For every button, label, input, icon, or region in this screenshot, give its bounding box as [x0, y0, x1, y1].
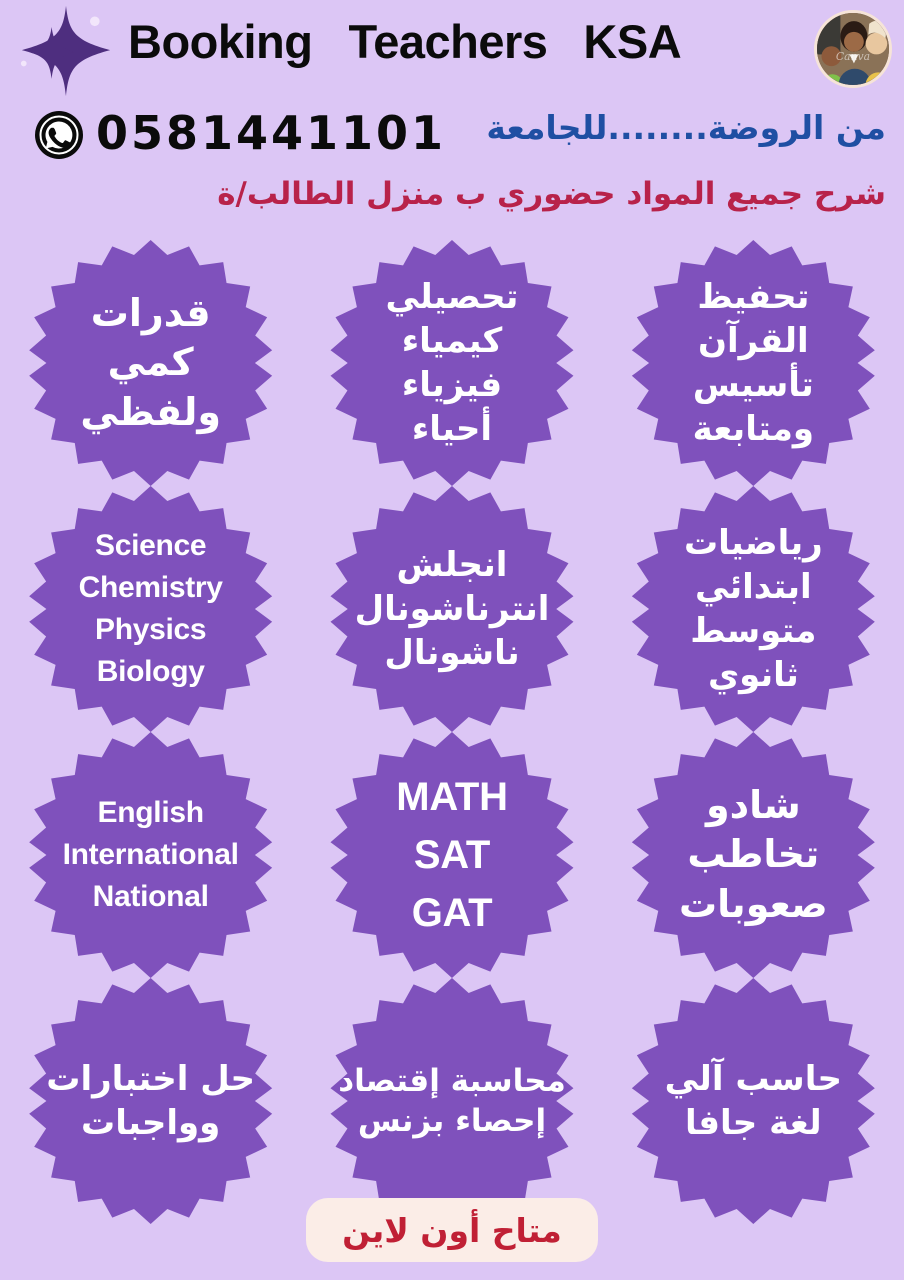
badge-line: القرآن [698, 319, 809, 363]
badge-quran[interactable]: تحفيظالقرآنتأسيسومتابعة [614, 240, 892, 486]
sparkle-icon [18, 4, 114, 96]
badge-line: انترناشونال [355, 587, 550, 631]
badge-line: ناشونال [384, 631, 519, 675]
badge-english-ar[interactable]: انجلشانترناشونالناشونال [313, 486, 591, 732]
badge-lines: محاسبة إقتصادإحصاء بزنس [324, 1061, 580, 1142]
badge-line: GAT [412, 884, 493, 942]
badge-lines: MATHSATGAT [324, 768, 580, 942]
headline-arabic: شرح جميع المواد حضوري ب منزل الطالب/ة [16, 176, 886, 212]
badge-line: كمي [108, 338, 194, 387]
badge-line: رياضيات [684, 521, 823, 565]
tagline-arabic: من الروضة........للجامعة [486, 108, 886, 147]
badge-line: فيزياء [402, 363, 502, 407]
brand-word-ksa: KSA [583, 14, 681, 69]
badge-line: ولفظي [80, 388, 221, 437]
badge-line: حاسب آلي [665, 1057, 842, 1101]
badge-line: حل اختبارات [46, 1057, 255, 1101]
badge-tahsili[interactable]: تحصيليكيمياءفيزياءأحياء [313, 240, 591, 486]
brand-word-booking: Booking [128, 14, 312, 69]
badge-line: International [63, 834, 239, 876]
badge-line: صعوبات [679, 880, 828, 929]
badge-science-en[interactable]: ScienceChemistryPhysicsBiology [12, 486, 290, 732]
badge-line: Physics [95, 609, 206, 651]
badge-line: SAT [414, 826, 490, 884]
badge-computer-java[interactable]: حاسب آليلغة جافا [614, 978, 892, 1224]
badge-exams-hw[interactable]: حل اختباراتوواجبات [12, 978, 290, 1224]
badge-shadow-speech[interactable]: شادوتخاطبصعوبات [614, 732, 892, 978]
badge-lines: قدراتكميولفظي [23, 289, 279, 437]
badge-line: ثانوي [708, 653, 799, 697]
badge-line: تحفيظ [697, 275, 809, 319]
badge-line: Science [95, 525, 206, 567]
brand-row: Booking Teachers KSA Canva [0, 0, 904, 100]
contact-row: 0581441101 من الروضة........للجامعة [0, 100, 904, 170]
badge-accounting[interactable]: محاسبة إقتصادإحصاء بزنس [313, 978, 591, 1224]
badge-math-ar[interactable]: رياضياتابتدائيمتوسطثانوي [614, 486, 892, 732]
badge-lines: تحفيظالقرآنتأسيسومتابعة [625, 275, 881, 452]
badge-lines: حاسب آليلغة جافا [625, 1057, 881, 1145]
badge-line: Biology [97, 651, 205, 693]
badge-english-intl[interactable]: EnglishInternationalNational [12, 732, 290, 978]
badge-line: لغة جافا [685, 1101, 822, 1145]
badge-line: إحصاء بزنس [358, 1101, 546, 1141]
brand-word-teachers: Teachers [348, 14, 547, 69]
whatsapp-icon[interactable] [34, 110, 84, 160]
badge-line: انجلش [397, 543, 508, 587]
page-header: Booking Teachers KSA Canva [0, 0, 904, 178]
available-online-label: متاح أون لاين [342, 1211, 562, 1250]
badge-line: National [93, 876, 209, 918]
badge-line: Chemistry [79, 567, 223, 609]
badge-math-sat-gat[interactable]: MATHSATGAT [313, 732, 591, 978]
badge-line: أحياء [412, 407, 492, 451]
badge-line: شادو [706, 781, 801, 830]
badge-line: تخاطب [687, 830, 819, 879]
badge-lines: شادوتخاطبصعوبات [625, 781, 881, 929]
subjects-badge-grid: قدراتكميولفظيتحصيليكيمياءفيزياءأحياءتحفي… [0, 240, 904, 1224]
badge-line: English [98, 792, 204, 834]
brand-title: Booking Teachers KSA [128, 14, 778, 69]
badge-lines: حل اختباراتوواجبات [23, 1057, 279, 1145]
badge-line: كيمياء [402, 319, 502, 363]
badge-lines: رياضياتابتدائيمتوسطثانوي [625, 521, 881, 698]
badge-qudrat[interactable]: قدراتكميولفظي [12, 240, 290, 486]
badge-line: تأسيس [693, 363, 814, 407]
badge-lines: EnglishInternationalNational [23, 792, 279, 918]
svg-text:Canva: Canva [836, 50, 870, 63]
badge-line: ومتابعة [693, 407, 814, 451]
badge-line: قدرات [91, 289, 211, 338]
badge-line: ابتدائي [695, 565, 812, 609]
badge-line: MATH [396, 768, 507, 826]
available-online-pill[interactable]: متاح أون لاين [306, 1198, 598, 1262]
phone-number[interactable]: 0581441101 [96, 106, 446, 160]
badge-lines: ScienceChemistryPhysicsBiology [23, 525, 279, 693]
badge-lines: انجلشانترناشونالناشونال [324, 543, 580, 676]
avatar: Canva [814, 10, 892, 88]
badge-line: محاسبة إقتصاد [338, 1061, 566, 1101]
badge-line: تحصيلي [386, 275, 519, 319]
badge-line: متوسط [690, 609, 816, 653]
badge-line: وواجبات [81, 1101, 220, 1145]
badge-lines: تحصيليكيمياءفيزياءأحياء [324, 275, 580, 452]
